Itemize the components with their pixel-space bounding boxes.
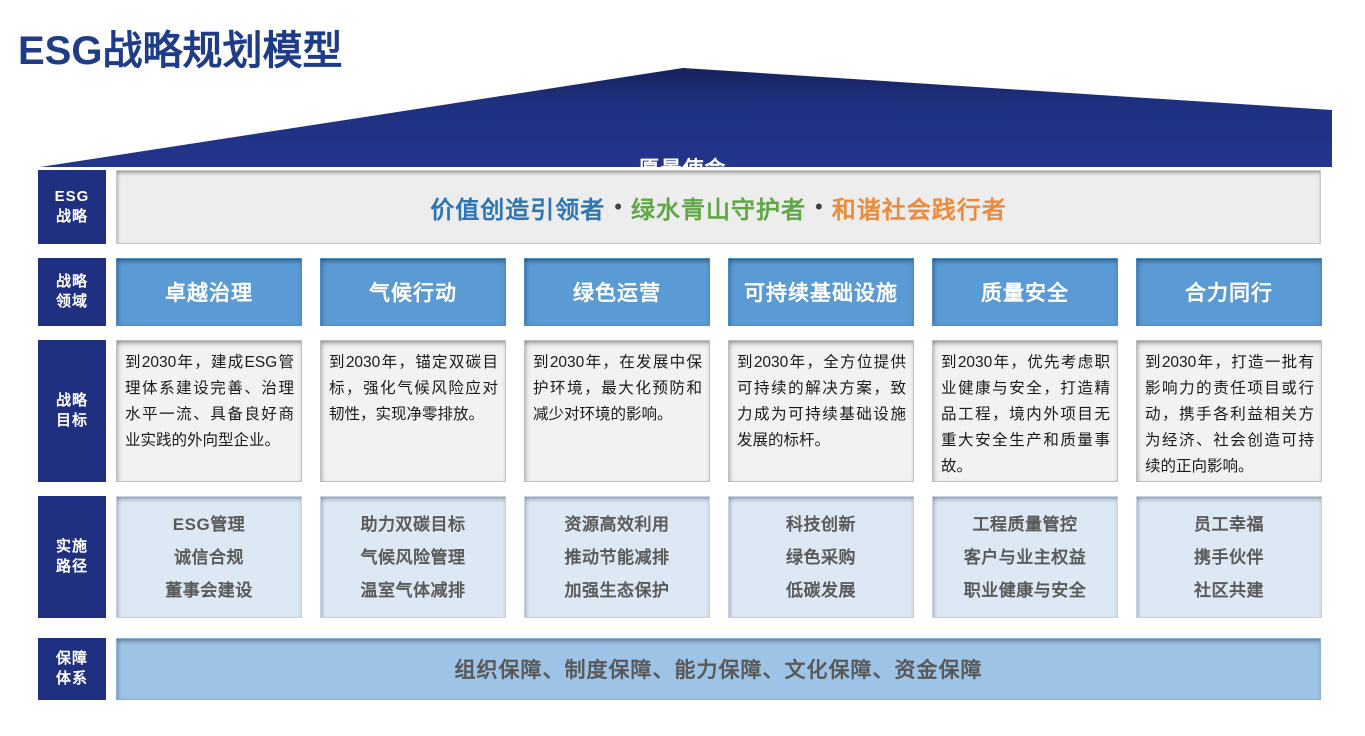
row-label-strategy-goal-line2: 目标 xyxy=(56,411,88,431)
domain-header-3[interactable]: 绿色运营 xyxy=(524,258,710,326)
roof-shape-icon xyxy=(0,68,1365,169)
path-item: 员工幸福 xyxy=(1194,509,1264,540)
row-label-strategy-domain-line1: 战略 xyxy=(56,272,88,292)
esg-strategy-model-slide: ESG战略规划模型 愿景使命 筑梦丝路·共建美好世界 ESG 战略 价值创造引领… xyxy=(0,0,1365,736)
path-item: 绿色采购 xyxy=(786,542,856,573)
row-label-implementation-path-line2: 路径 xyxy=(56,557,88,577)
domain-header-2[interactable]: 气候行动 xyxy=(320,258,506,326)
path-item: 诚信合规 xyxy=(174,542,244,573)
row-label-esg-strategy-line1: ESG xyxy=(55,187,90,207)
esg-separator-dot-1: • xyxy=(605,194,631,220)
goal-text-5: 到2030年，优先考虑职业健康与安全，打造精品工程，境内外项目无重大安全生产和质… xyxy=(932,340,1118,482)
row-label-guarantee-system: 保障 体系 xyxy=(38,638,106,700)
path-box-5[interactable]: 工程质量管控 客户与业主权益 职业健康与安全 xyxy=(932,496,1118,618)
path-box-2[interactable]: 助力双碳目标 气候风险管理 温室气体减排 xyxy=(320,496,506,618)
row-label-strategy-domain-line2: 领域 xyxy=(56,292,88,312)
row-label-strategy-goal: 战略 目标 xyxy=(38,340,106,482)
domain-header-4[interactable]: 可持续基础设施 xyxy=(728,258,914,326)
path-item: 推动节能减排 xyxy=(565,542,670,573)
guarantee-system-band: 组织保障、制度保障、能力保障、文化保障、资金保障 xyxy=(116,638,1321,700)
row-label-strategy-goal-line1: 战略 xyxy=(56,391,88,411)
path-box-4[interactable]: 科技创新 绿色采购 低碳发展 xyxy=(728,496,914,618)
path-item: 客户与业主权益 xyxy=(964,542,1087,573)
domain-header-6[interactable]: 合力同行 xyxy=(1136,258,1322,326)
path-item: 董事会建设 xyxy=(165,575,253,606)
esg-pillar-environment: 绿水青山守护者 xyxy=(631,190,806,225)
path-item: 社区共建 xyxy=(1194,575,1264,606)
path-box-6[interactable]: 员工幸福 携手伙伴 社区共建 xyxy=(1136,496,1322,618)
path-item: 助力双碳目标 xyxy=(361,509,466,540)
path-item: 低碳发展 xyxy=(786,575,856,606)
path-item: 气候风险管理 xyxy=(361,542,466,573)
path-item: 携手伙伴 xyxy=(1194,542,1264,573)
row-label-strategy-domain: 战略 领域 xyxy=(38,258,106,326)
goal-text-4: 到2030年，全方位提供可持续的解决方案，致力成为可持续基础设施发展的标杆。 xyxy=(728,340,914,482)
row-label-implementation-path-line1: 实施 xyxy=(56,537,88,557)
path-item: 科技创新 xyxy=(786,509,856,540)
row-label-implementation-path: 实施 路径 xyxy=(38,496,106,618)
esg-pillar-value: 价值创造引领者 xyxy=(430,190,605,225)
guarantee-system-text: 组织保障、制度保障、能力保障、文化保障、资金保障 xyxy=(455,654,983,684)
esg-pillar-society: 和谐社会践行者 xyxy=(832,190,1007,225)
row-label-guarantee-system-line1: 保障 xyxy=(56,649,88,669)
path-item: 职业健康与安全 xyxy=(964,575,1087,606)
goal-text-1: 到2030年，建成ESG管理体系建设完善、治理水平一流、具备良好商业实践的外向型… xyxy=(116,340,302,482)
row-label-esg-strategy: ESG 战略 xyxy=(38,170,106,244)
domain-header-5[interactable]: 质量安全 xyxy=(932,258,1118,326)
path-item: ESG管理 xyxy=(173,509,245,540)
path-box-3[interactable]: 资源高效利用 推动节能减排 加强生态保护 xyxy=(524,496,710,618)
path-item: 加强生态保护 xyxy=(565,575,670,606)
goal-text-2: 到2030年，锚定双碳目标，强化气候风险应对韧性，实现净零排放。 xyxy=(320,340,506,482)
esg-separator-dot-2: • xyxy=(806,194,832,220)
row-label-esg-strategy-line2: 战略 xyxy=(56,207,88,227)
path-item: 工程质量管控 xyxy=(973,509,1078,540)
path-item: 温室气体减排 xyxy=(361,575,466,606)
path-item: 资源高效利用 xyxy=(565,509,670,540)
vision-mission-roof: 愿景使命 筑梦丝路·共建美好世界 xyxy=(0,68,1365,169)
domain-header-1[interactable]: 卓越治理 xyxy=(116,258,302,326)
path-box-1[interactable]: ESG管理 诚信合规 董事会建设 xyxy=(116,496,302,618)
esg-strategy-band: 价值创造引领者 • 绿水青山守护者 • 和谐社会践行者 xyxy=(116,170,1321,244)
goal-text-6: 到2030年，打造一批有影响力的责任项目或行动，携手各利益相关方为经济、社会创造… xyxy=(1136,340,1322,482)
goal-text-3: 到2030年，在发展中保护环境，最大化预防和减少对环境的影响。 xyxy=(524,340,710,482)
row-label-guarantee-system-line2: 体系 xyxy=(56,669,88,689)
